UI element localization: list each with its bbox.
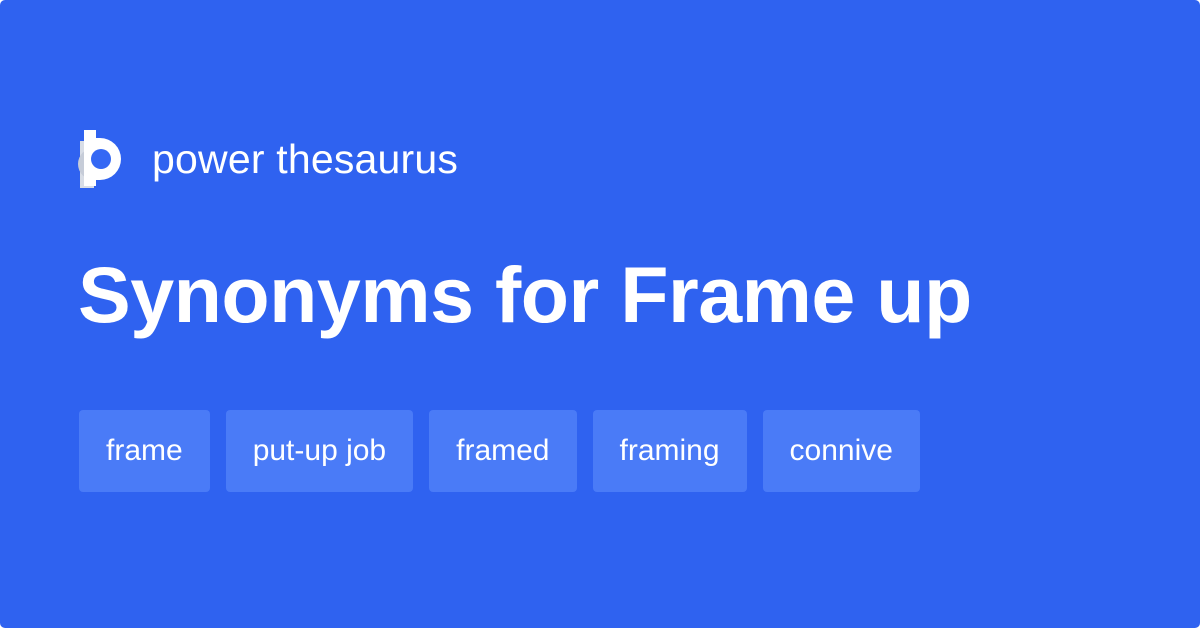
- page-title: Synonyms for Frame up: [78, 248, 972, 342]
- synonym-chip[interactable]: connive: [763, 410, 920, 492]
- synonym-chip[interactable]: put-up job: [226, 410, 413, 492]
- synonym-chip[interactable]: framed: [429, 410, 576, 492]
- synonym-chip[interactable]: frame: [79, 410, 210, 492]
- brand-header[interactable]: power thesaurus: [78, 126, 458, 192]
- share-card: power thesaurus Synonyms for Frame up fr…: [0, 0, 1200, 628]
- synonym-chip-list: frame put-up job framed framing connive: [79, 410, 920, 492]
- brand-name: power thesaurus: [152, 139, 458, 180]
- power-thesaurus-b-mark-icon: [78, 128, 124, 190]
- synonym-chip[interactable]: framing: [593, 410, 747, 492]
